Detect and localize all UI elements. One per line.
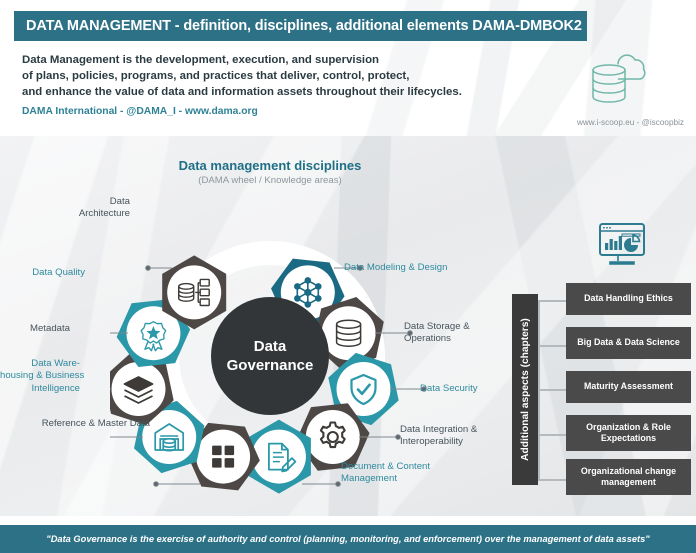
- header-section: DATA MANAGEMENT - definition, discipline…: [0, 0, 696, 136]
- footer-gap: [0, 516, 696, 525]
- intro-line-2: of plans, policies, programs, and practi…: [22, 68, 492, 84]
- chapter-box-organization-role-expectations[interactable]: Organization & Role Expectations: [566, 415, 691, 451]
- label-data-architecture: Data Architecture: [20, 196, 130, 221]
- additional-aspects-label: Additional aspects (chapters): [520, 318, 531, 461]
- dashboard-monitor-icon: [596, 222, 648, 268]
- intro-paragraph: Data Management is the development, exec…: [22, 52, 492, 101]
- label-dw-bi: Data Ware- housing & Business Intelligen…: [0, 358, 80, 395]
- chapter-box-big-data-science[interactable]: Big Data & Data Science: [566, 327, 691, 359]
- footer-bar: "Data Governance is the exercise of auth…: [0, 525, 696, 553]
- wheel-subtitle: (DAMA wheel / Knowledge areas): [150, 175, 390, 186]
- dama-international-link[interactable]: DAMA International - @DAMA_I - www.dama.…: [22, 106, 258, 117]
- wheel-center: Data Governance: [211, 297, 329, 415]
- aspects-connector-3: [538, 389, 566, 391]
- chapter-box-organizational-change-management[interactable]: Organizational change management: [566, 459, 691, 495]
- label-data-quality: Data Quality: [0, 267, 85, 279]
- aspects-connector-5: [538, 479, 566, 481]
- label-reference-master-data: Reference & Master Data: [20, 418, 150, 430]
- additional-aspects-bar: Additional aspects (chapters): [512, 294, 538, 485]
- label-document-content: Document & Content Management: [341, 461, 430, 486]
- footer-quote: "Data Governance is the exercise of auth…: [46, 534, 649, 544]
- label-data-security: Data Security: [420, 383, 478, 395]
- label-data-integration: Data Integration & Interoperability: [400, 424, 477, 449]
- infographic-root: DATA MANAGEMENT - definition, discipline…: [0, 0, 696, 553]
- aspects-connector-4: [538, 434, 566, 436]
- label-data-modeling: Data Modeling & Design: [344, 262, 447, 274]
- wheel-title: Data management disciplines: [150, 158, 390, 173]
- iscoop-credit: www.i-scoop.eu - @iscoopbiz: [577, 118, 684, 127]
- page-title: DATA MANAGEMENT - definition, discipline…: [14, 18, 582, 34]
- label-metadata: Metadata: [0, 323, 70, 335]
- label-data-storage: Data Storage & Operations: [404, 321, 470, 346]
- center-label-line1: Data: [254, 338, 287, 355]
- intro-line-3: and enhance the value of data and inform…: [22, 84, 492, 100]
- center-label-line2: Governance: [227, 357, 314, 374]
- cloud-database-icon: [588, 44, 650, 110]
- chapter-box-maturity-assessment[interactable]: Maturity Assessment: [566, 371, 691, 403]
- aspects-connector-2: [538, 345, 566, 347]
- chapter-box-data-handling-ethics[interactable]: Data Handling Ethics: [566, 283, 691, 315]
- title-bar: DATA MANAGEMENT - definition, discipline…: [14, 11, 587, 41]
- intro-line-1: Data Management is the development, exec…: [22, 52, 492, 68]
- aspects-connector-1: [538, 300, 566, 302]
